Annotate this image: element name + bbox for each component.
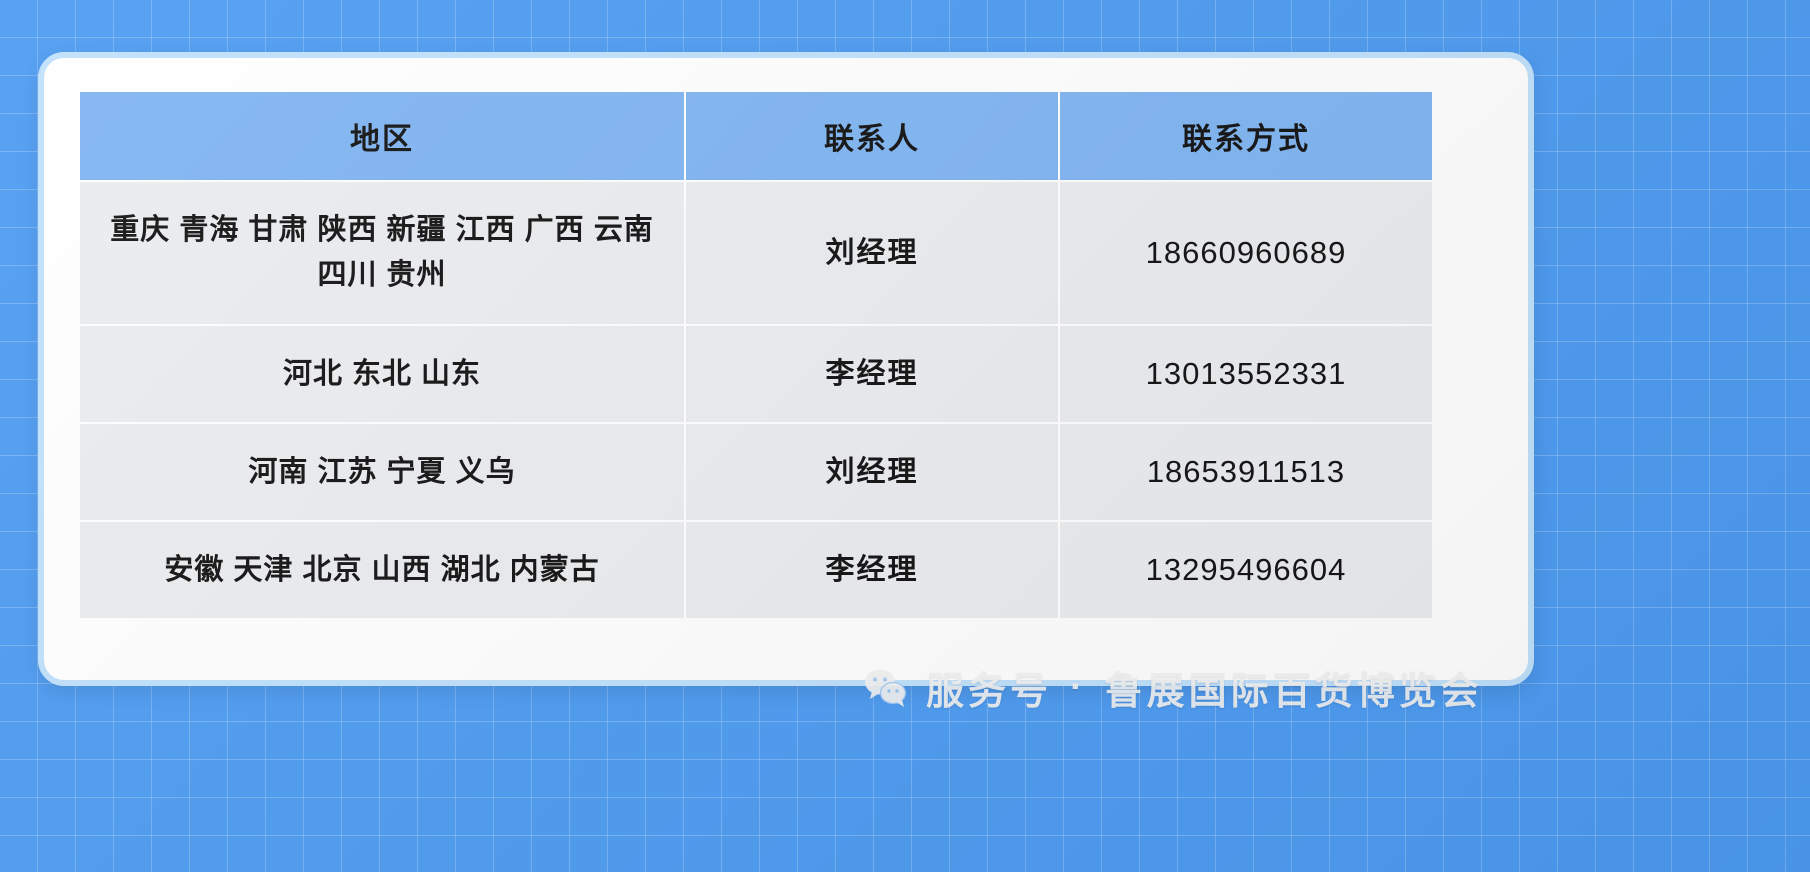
content-card: 地区 联系人 联系方式 重庆 青海 甘肃 陕西 新疆 江西 广西 云南 四川 贵… [38, 52, 1534, 686]
table-row: 河北 东北 山东 李经理 13013552331 [80, 326, 1432, 422]
cell-phone[interactable]: 18660960689 [1060, 182, 1432, 324]
cell-person: 李经理 [686, 522, 1058, 618]
card-inner-padding: 地区 联系人 联系方式 重庆 青海 甘肃 陕西 新疆 江西 广西 云南 四川 贵… [78, 90, 1500, 654]
cell-region: 重庆 青海 甘肃 陕西 新疆 江西 广西 云南 四川 贵州 [80, 182, 684, 324]
column-header-phone: 联系方式 [1060, 92, 1432, 180]
table-row: 重庆 青海 甘肃 陕西 新疆 江西 广西 云南 四川 贵州 刘经理 186609… [80, 182, 1432, 324]
regional-contact-table: 地区 联系人 联系方式 重庆 青海 甘肃 陕西 新疆 江西 广西 云南 四川 贵… [78, 90, 1434, 620]
table-row: 安徽 天津 北京 山西 湖北 内蒙古 李经理 13295496604 [80, 522, 1432, 618]
table-header: 地区 联系人 联系方式 [80, 92, 1432, 180]
cell-phone[interactable]: 13013552331 [1060, 326, 1432, 422]
cell-phone[interactable]: 13295496604 [1060, 522, 1432, 618]
cell-region: 安徽 天津 北京 山西 湖北 内蒙古 [80, 522, 684, 618]
table-header-row: 地区 联系人 联系方式 [80, 92, 1432, 180]
table-row: 河南 江苏 宁夏 义乌 刘经理 18653911513 [80, 424, 1432, 520]
cell-region: 河北 东北 山东 [80, 326, 684, 422]
table-body: 重庆 青海 甘肃 陕西 新疆 江西 广西 云南 四川 贵州 刘经理 186609… [80, 182, 1432, 618]
cell-person: 刘经理 [686, 424, 1058, 520]
cell-phone[interactable]: 18653911513 [1060, 424, 1432, 520]
cell-region: 河南 江苏 宁夏 义乌 [80, 424, 684, 520]
column-header-person: 联系人 [686, 92, 1058, 180]
cell-person: 李经理 [686, 326, 1058, 422]
column-header-region: 地区 [80, 92, 684, 180]
page-background: 地区 联系人 联系方式 重庆 青海 甘肃 陕西 新疆 江西 广西 云南 四川 贵… [0, 0, 1810, 872]
cell-person: 刘经理 [686, 182, 1058, 324]
